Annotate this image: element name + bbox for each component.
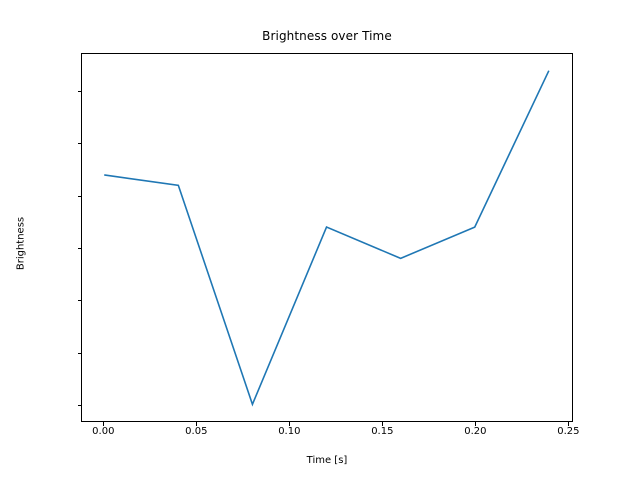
x-tick-label: 0.05 xyxy=(166,426,226,437)
x-tick-mark xyxy=(103,422,104,426)
x-tick-mark xyxy=(382,422,383,426)
x-tick-label: 0.10 xyxy=(259,426,319,437)
y-tick-mark xyxy=(78,300,82,301)
x-axis-label: Time [s] xyxy=(81,455,573,466)
x-tick-mark xyxy=(289,422,290,426)
y-axis-label: Brightness xyxy=(16,183,27,303)
x-tick-mark xyxy=(196,422,197,426)
y-tick-mark xyxy=(78,353,82,354)
x-tick-label: 0.15 xyxy=(352,426,412,437)
x-tick-label: 0.25 xyxy=(538,426,598,437)
y-tick-mark xyxy=(78,248,82,249)
x-tick-label: 0.20 xyxy=(445,426,505,437)
x-tick-mark xyxy=(568,422,569,426)
brightness-line xyxy=(104,71,549,405)
y-tick-mark xyxy=(78,405,82,406)
y-tick-mark xyxy=(78,143,82,144)
chart-figure: Brightness over Time 707580859095100 0.0… xyxy=(0,0,640,480)
y-tick-mark xyxy=(78,91,82,92)
plot-area xyxy=(81,53,573,422)
x-tick-mark xyxy=(475,422,476,426)
chart-title: Brightness over Time xyxy=(81,29,573,43)
line-series-svg xyxy=(82,54,572,421)
y-tick-mark xyxy=(78,196,82,197)
x-tick-label: 0.00 xyxy=(73,426,133,437)
